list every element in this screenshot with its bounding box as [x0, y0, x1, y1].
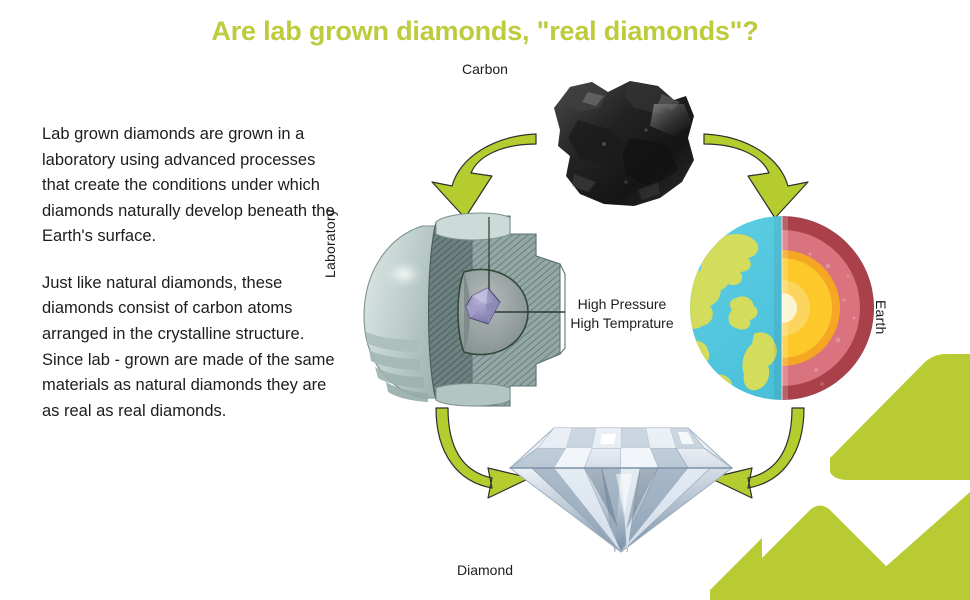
label-earth: Earth: [873, 300, 889, 334]
body-copy: Lab grown diamonds are grown in a labora…: [42, 122, 338, 424]
infographic-canvas: Are lab grown diamonds, "real diamonds"?…: [0, 0, 970, 600]
arrow-carbon-to-laboratory-icon: [418, 128, 542, 222]
arrow-carbon-to-earth-icon: [698, 128, 822, 222]
earth-cutaway-illustration: [688, 214, 876, 402]
label-carbon: Carbon: [0, 61, 970, 77]
hpht-press-cutaway-illustration: [360, 212, 575, 410]
carbon-graphite-rock-illustration: [534, 78, 710, 210]
label-laboratory: Laboratory: [322, 209, 338, 278]
label-diamond: Diamond: [0, 562, 970, 578]
page-title: Are lab grown diamonds, "real diamonds"?: [0, 16, 970, 47]
brilliant-cut-diamond-illustration: [492, 412, 750, 554]
center-label-line-2: High Temprature: [566, 314, 678, 333]
label-high-pressure-high-temperature: High Pressure High Temprature: [566, 295, 678, 333]
body-paragraph-1: Lab grown diamonds are grown in a labora…: [42, 122, 338, 250]
body-paragraph-2: Just like natural diamonds, these diamon…: [42, 271, 338, 424]
center-label-line-1: High Pressure: [566, 295, 678, 314]
